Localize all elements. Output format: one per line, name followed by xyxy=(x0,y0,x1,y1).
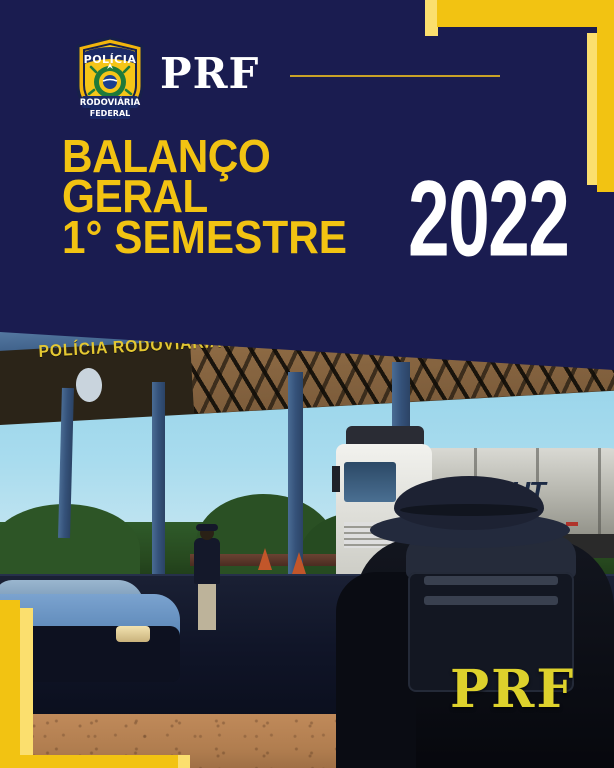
svg-text:RODOVIÁRIA: RODOVIÁRIA xyxy=(80,96,141,108)
photo-traffic-cone xyxy=(258,548,272,570)
bottom-left-bracket-vertical xyxy=(0,600,20,768)
bottom-left-light-accent-horizontal xyxy=(178,755,190,768)
photo-distant-officer-body xyxy=(194,538,220,584)
photo-distant-officer-cap xyxy=(196,524,218,531)
cover-title: BALANÇO GERAL 1° SEMESTRE xyxy=(62,136,372,257)
cover-header: POLÍCIA RODOVIÁRIA FEDERAL PRF xyxy=(0,0,614,130)
cover-photograph: POLÍCIA RODOVIÁRIA FEDERAL MASUT xyxy=(0,326,614,768)
prf-shield-badge-icon: POLÍCIA RODOVIÁRIA FEDERAL xyxy=(74,36,146,122)
bottom-left-light-accent-vertical xyxy=(20,608,33,756)
photo-officer-hat-band xyxy=(400,504,538,516)
header-gold-rule xyxy=(290,75,500,77)
photo-officer-hat-crown xyxy=(394,476,544,530)
prf-wordmark: PRF xyxy=(160,53,259,95)
photo-canopy-pillar xyxy=(152,382,165,592)
bottom-left-bracket-horizontal xyxy=(0,755,178,768)
photo-officer-vest-strap xyxy=(424,576,558,585)
title-year: 2022 xyxy=(408,176,568,264)
photo-car-headlight xyxy=(116,626,150,642)
photo-foreground-officer: PRF xyxy=(330,476,614,768)
photo-officer-shoulder xyxy=(336,572,416,768)
photo-traffic-cone xyxy=(292,552,306,574)
svg-text:FEDERAL: FEDERAL xyxy=(90,109,130,118)
report-cover: POLÍCIA RODOVIÁRIA FEDERAL PRF BALANÇO G… xyxy=(0,0,614,768)
photo-officer-vest-text: PRF xyxy=(450,664,575,716)
title-line-3: 1° SEMESTRE xyxy=(62,217,347,257)
photo-officer-vest-strap xyxy=(424,596,558,605)
photo-distant-officer-legs xyxy=(198,582,216,630)
